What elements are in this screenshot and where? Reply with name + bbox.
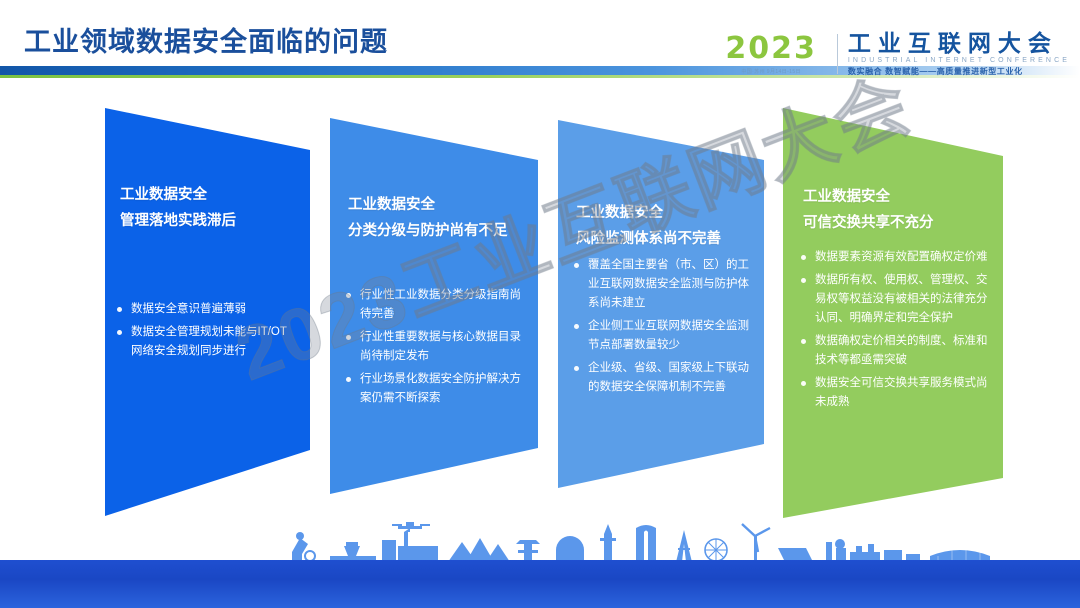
list-item: 行业场景化数据安全防护解决方案仍需不断探索	[346, 370, 532, 408]
logo-divider	[837, 34, 838, 74]
list-item: 数据安全意识普遍薄弱	[117, 300, 289, 319]
panel-heading-2: 工业数据安全 分类分级与防护尚有不足	[348, 192, 508, 244]
list-item: 覆盖全国主要省（市、区）的工业互联网数据安全监测与防护体系尚未建立	[574, 256, 756, 313]
list-item: 数据安全可信交换共享服务模式尚未成熟	[801, 374, 991, 412]
list-item: 企业级、省级、国家级上下联动的数据安全保障机制不完善	[574, 359, 756, 397]
list-item: 数据安全管理规划未能与IT/OT网络安全规划同步进行	[117, 323, 289, 361]
list-item: 数据要素资源有效配置确权定价难	[801, 248, 991, 267]
panel-heading-4: 工业数据安全 可信交换共享不充分	[803, 184, 934, 236]
logo-text-block: 工业互联网大会 INDUSTRIAL INTERNET CONFERENCE 数…	[848, 31, 1070, 77]
city-skyline-graphic	[0, 518, 1080, 564]
list-item: 行业性重要数据与核心数据目录尚待制定发布	[346, 328, 532, 366]
slide: 工业领域数据安全面临的问题 2023 中国·苏州 9月14日-15日 工业互联网…	[0, 0, 1080, 608]
conference-name-cn: 工业互联网大会	[848, 31, 1070, 55]
list-item: 数据确权定价相关的制度、标准和技术等都亟需突破	[801, 332, 991, 370]
panel-bullets-2: 行业性工业数据分类分级指南尚待完善 行业性重要数据与核心数据目录尚待制定发布 行…	[346, 286, 532, 412]
conference-logo: 2023 中国·苏州 9月14日-15日 工业互联网大会 INDUSTRIAL …	[725, 28, 1070, 80]
panel-bullets-4: 数据要素资源有效配置确权定价难 数据所有权、使用权、管理权、交易权等权益没有被相…	[801, 248, 991, 416]
list-item: 行业性工业数据分类分级指南尚待完善	[346, 286, 532, 324]
slide-footer	[0, 538, 1080, 608]
logo-date-location: 中国·苏州 9月14日-15日	[741, 68, 801, 75]
panel-trusted-exchange[interactable]: 工业数据安全 可信交换共享不充分 数据要素资源有效配置确权定价难 数据所有权、使…	[775, 96, 1025, 536]
slide-header: 工业领域数据安全面临的问题 2023 中国·苏州 9月14日-15日 工业互联网…	[0, 0, 1080, 96]
panel-classification-protection[interactable]: 工业数据安全 分类分级与防护尚有不足 行业性工业数据分类分级指南尚待完善 行业性…	[320, 96, 570, 536]
panel-data-security-management[interactable]: 工业数据安全 管理落地实践滞后 数据安全意识普遍薄弱 数据安全管理规划未能与IT…	[95, 96, 345, 536]
panel-group: 工业数据安全 管理落地实践滞后 数据安全意识普遍薄弱 数据安全管理规划未能与IT…	[0, 96, 1080, 536]
panel-bullets-1: 数据安全意识普遍薄弱 数据安全管理规划未能与IT/OT网络安全规划同步进行	[117, 300, 289, 365]
panel-risk-monitoring[interactable]: 工业数据安全 风险监测体系尚不完善 覆盖全国主要省（市、区）的工业互联网数据安全…	[548, 96, 798, 536]
panel-bullets-3: 覆盖全国主要省（市、区）的工业互联网数据安全监测与防护体系尚未建立 企业侧工业互…	[574, 256, 756, 401]
conference-tagline: 数实融合 数智赋能——高质量推进新型工业化	[848, 66, 1070, 77]
list-item: 企业侧工业互联网数据安全监测节点部署数量较少	[574, 317, 756, 355]
logo-year-block: 2023 中国·苏州 9月14日-15日	[725, 34, 827, 75]
conference-name-en: INDUSTRIAL INTERNET CONFERENCE	[848, 57, 1070, 64]
list-item: 数据所有权、使用权、管理权、交易权等权益没有被相关的法律充分认同、明确界定和完全…	[801, 271, 991, 328]
panel-heading-3: 工业数据安全 风险监测体系尚不完善	[576, 200, 721, 252]
logo-year: 2023	[725, 34, 817, 64]
panel-heading-1: 工业数据安全 管理落地实践滞后	[120, 182, 236, 234]
footer-band	[0, 560, 1080, 608]
page-title: 工业领域数据安全面临的问题	[24, 20, 388, 59]
